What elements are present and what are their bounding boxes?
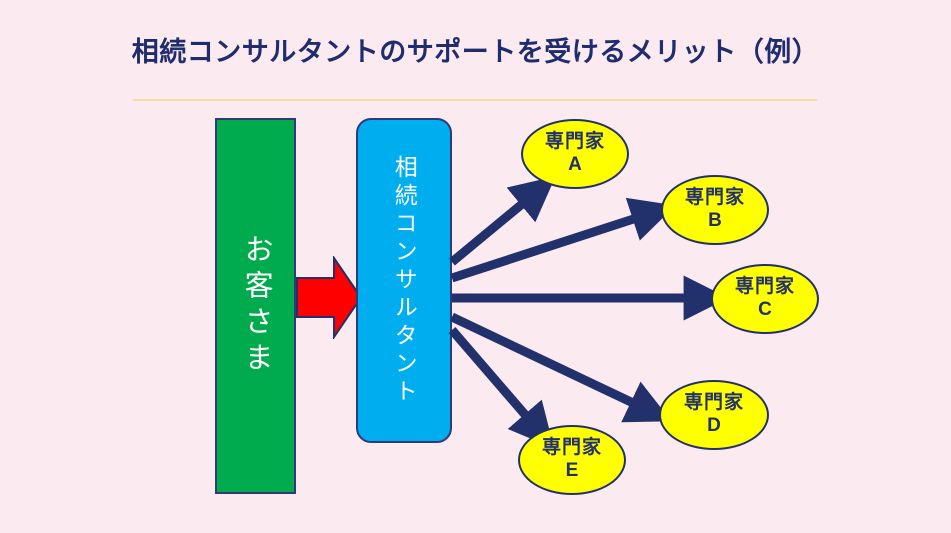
red-block-arrow-icon	[296, 256, 362, 339]
expert-c-kanji: 専門家	[735, 277, 795, 298]
arrow-to-expert-a	[452, 190, 539, 262]
customer-box[interactable]: お客さま	[215, 118, 296, 494]
expert-node-a[interactable]: 専門家 A	[521, 119, 629, 189]
expert-b-kanji: 専門家	[685, 188, 745, 209]
title-block: 相続コンサルタントのサポートを受けるメリット（例）	[0, 36, 951, 68]
expert-d-letter: D	[707, 416, 721, 437]
expert-a-letter: A	[568, 155, 582, 176]
title-divider	[133, 99, 817, 101]
arrow-to-expert-b	[452, 212, 655, 278]
expert-d-kanji: 専門家	[684, 393, 744, 414]
expert-c-letter: C	[758, 300, 772, 321]
page-title: 相続コンサルタントのサポートを受けるメリット（例）	[132, 36, 820, 68]
expert-node-c[interactable]: 専門家 C	[711, 264, 819, 334]
expert-b-letter: B	[708, 211, 722, 232]
expert-node-e[interactable]: 専門家 E	[518, 425, 626, 495]
expert-e-letter: E	[566, 461, 579, 482]
consultant-label: 相続コンサルタント	[391, 155, 417, 407]
arrow-to-expert-e	[452, 330, 540, 432]
expert-e-kanji: 専門家	[542, 438, 602, 459]
consultant-box[interactable]: 相続コンサルタント	[356, 118, 452, 443]
expert-node-d[interactable]: 専門家 D	[659, 380, 769, 450]
expert-node-b[interactable]: 専門家 B	[661, 175, 769, 245]
connector-arrows	[0, 0, 951, 533]
customer-label: お客さま	[239, 234, 272, 378]
slide-canvas: 相続コンサルタントのサポートを受けるメリット（例） お客さま 相続コンサルタント	[0, 0, 951, 533]
expert-a-kanji: 専門家	[545, 132, 605, 153]
arrow-to-expert-d	[452, 317, 652, 412]
